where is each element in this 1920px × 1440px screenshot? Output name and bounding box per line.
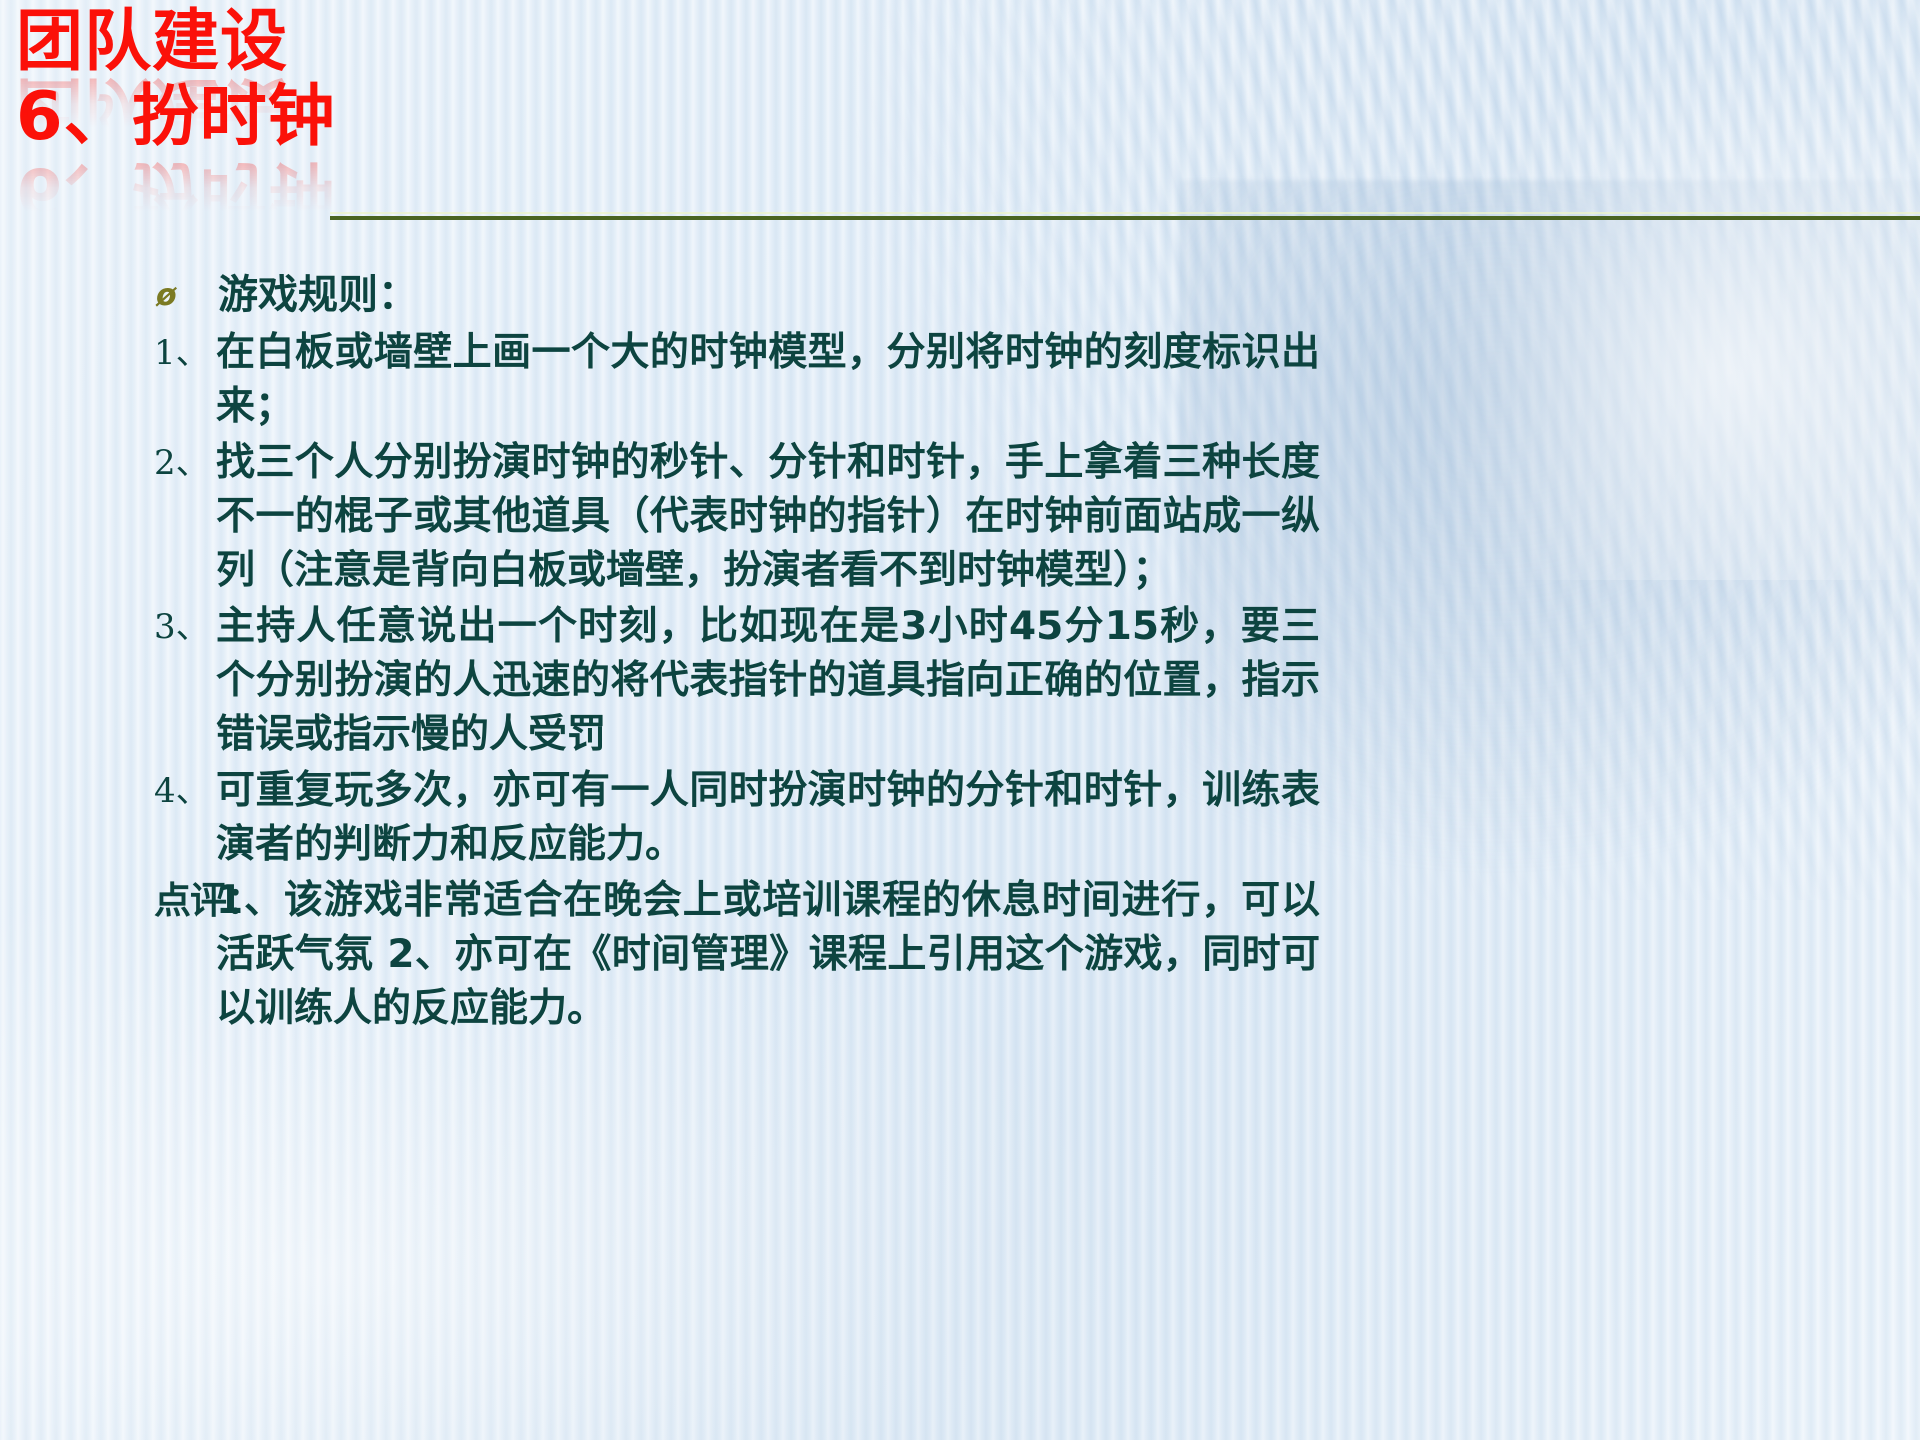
list-item-text: 在白板或墙壁上画一个大的时钟模型，分别将时钟的刻度标识出来； [216, 326, 1320, 434]
slide-title-block: 团队建设 6、扮时钟 团队建设 6、扮时钟 [16, 8, 336, 150]
list-item-text: 找三个人分别扮演时钟的秒针、分针和时针，手上拿着三种长度不一的棍子或其他道具（代… [216, 436, 1320, 598]
list-item-text: 主持人任意说出一个时刻，比如现在是3小时45分15秒，要三个分别扮演的人迅速的将… [216, 600, 1320, 762]
comment-block: 点评： 1、该游戏非常适合在晚会上或培训课程的休息时间进行，可以活跃气氛 2、亦… [150, 874, 1320, 1036]
slide-canvas: 团队建设 6、扮时钟 团队建设 6、扮时钟 ø 游戏规则： 1、 在白板或墙壁上… [0, 0, 1920, 1440]
list-item-text: 可重复玩多次，亦可有一人同时扮演时钟的分针和时针，训练表演者的判断力和反应能力。 [216, 764, 1320, 872]
list-item: 3、 主持人任意说出一个时刻，比如现在是3小时45分15秒，要三个分别扮演的人迅… [150, 600, 1320, 762]
title-divider-rule [330, 216, 1920, 220]
comment-text: 1、该游戏非常适合在晚会上或培训课程的休息时间进行，可以活跃气氛 2、亦可在《时… [216, 874, 1320, 1036]
rules-heading: 游戏规则： [218, 268, 1320, 322]
list-item: 2、 找三个人分别扮演时钟的秒针、分针和时针，手上拿着三种长度不一的棍子或其他道… [150, 436, 1320, 598]
slide-body: ø 游戏规则： 1、 在白板或墙壁上画一个大的时钟模型，分别将时钟的刻度标识出来… [150, 268, 1320, 1036]
list-item-marker: 4、 [150, 764, 216, 818]
list-item-marker: 2、 [150, 436, 216, 490]
list-item-marker: 3、 [150, 600, 216, 654]
page-subtitle: 6、扮时钟 [16, 83, 336, 150]
list-item: 1、 在白板或墙壁上画一个大的时钟模型，分别将时钟的刻度标识出来； [150, 326, 1320, 434]
list-item: ø 游戏规则： [150, 268, 1320, 324]
page-title: 团队建设 [16, 8, 336, 75]
comment-label: 点评： [150, 874, 216, 928]
list-item-marker: 1、 [150, 326, 216, 380]
pen-bullet-icon: ø [150, 268, 218, 324]
list-item: 4、 可重复玩多次，亦可有一人同时扮演时钟的分针和时针，训练表演者的判断力和反应… [150, 764, 1320, 872]
